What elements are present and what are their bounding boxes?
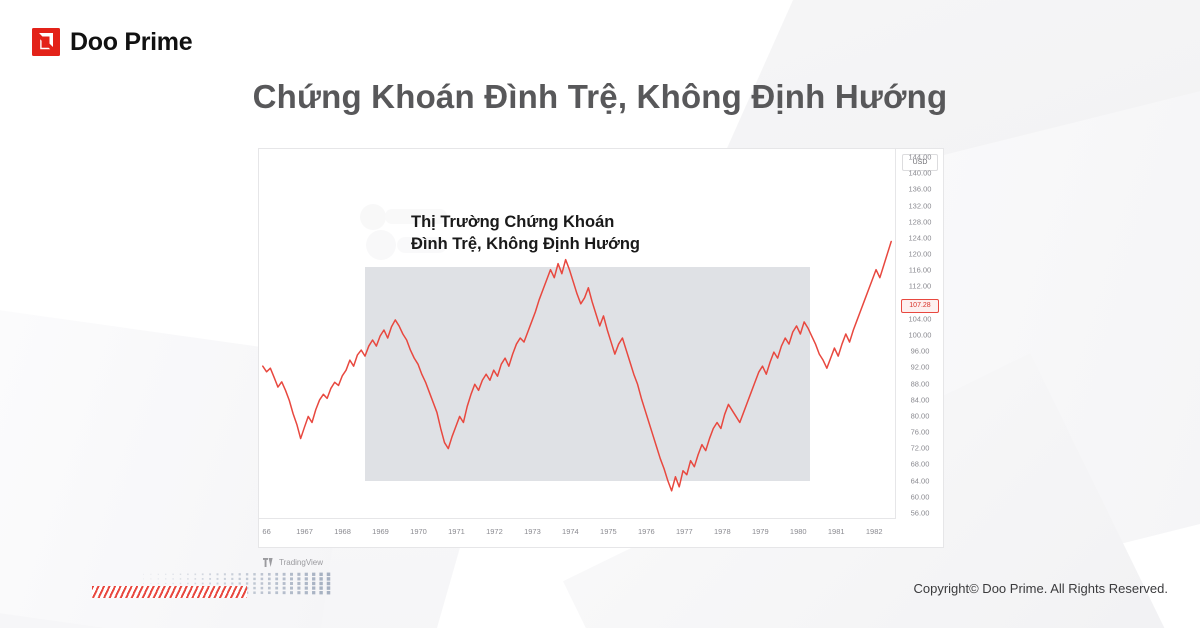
tradingview-attribution[interactable]: TradingView xyxy=(263,558,323,567)
doo-prime-logo-mark-icon xyxy=(32,28,60,56)
x-axis-tick: 1973 xyxy=(524,527,541,536)
chart-annotation-line1: Thị Trường Chứng Khoán xyxy=(411,211,640,233)
tradingview-label: TradingView xyxy=(279,558,323,567)
x-axis-tick: 1977 xyxy=(676,527,693,536)
y-axis-tick: 56.00 xyxy=(896,508,944,517)
x-axis-tick: 1968 xyxy=(334,527,351,536)
y-axis-tick: 132.00 xyxy=(896,201,944,210)
x-axis-tick: 1982 xyxy=(866,527,883,536)
y-axis-tick: 60.00 xyxy=(896,492,944,501)
y-axis-tick: 136.00 xyxy=(896,185,944,194)
chart-annotation-line2: Đình Trệ, Không Định Hướng xyxy=(411,233,640,255)
chart-card: Thị Trường Chứng Khoán Đình Trệ, Không Đ… xyxy=(258,148,944,548)
y-axis-tick: 72.00 xyxy=(896,444,944,453)
x-axis-tick: 1979 xyxy=(752,527,769,536)
x-axis-tick: 1970 xyxy=(410,527,427,536)
x-axis-tick: 1980 xyxy=(790,527,807,536)
brand-name: Doo Prime xyxy=(70,30,192,55)
last-price-tag[interactable]: 107.28 xyxy=(901,299,939,313)
x-axis-tick: 1978 xyxy=(714,527,731,536)
tradingview-logo-icon xyxy=(263,558,275,567)
y-axis-tick: 84.00 xyxy=(896,395,944,404)
y-axis-tick: 64.00 xyxy=(896,476,944,485)
x-axis-tick: 1976 xyxy=(638,527,655,536)
y-axis-tick: 100.00 xyxy=(896,331,944,340)
y-axis-tick: 124.00 xyxy=(896,233,944,242)
footer-decoration xyxy=(92,572,342,598)
y-axis-tick: 112.00 xyxy=(896,282,944,291)
chart-annotation: Thị Trường Chứng Khoán Đình Trệ, Không Đ… xyxy=(411,211,640,256)
y-axis-tick: 92.00 xyxy=(896,363,944,372)
price-line-series xyxy=(259,149,895,519)
y-axis-tick: 128.00 xyxy=(896,217,944,226)
x-axis-tick: 66 xyxy=(262,527,270,536)
red-stripe-bar xyxy=(92,586,247,598)
y-axis-tick: 120.00 xyxy=(896,250,944,259)
y-axis-tick: 80.00 xyxy=(896,411,944,420)
x-axis-tick: 1967 xyxy=(296,527,313,536)
x-axis-tick: 1972 xyxy=(486,527,503,536)
chart-plot-area: Thị Trường Chứng Khoán Đình Trệ, Không Đ… xyxy=(259,149,895,519)
x-axis-tick: 1969 xyxy=(372,527,389,536)
x-axis-tick: 1981 xyxy=(828,527,845,536)
y-axis-tick: 140.00 xyxy=(896,169,944,178)
y-axis-tick: 116.00 xyxy=(896,266,944,275)
x-axis-tick: 1974 xyxy=(562,527,579,536)
y-axis-tick: 104.00 xyxy=(896,314,944,323)
chart-y-axis[interactable]: USD 144.00140.00136.00132.00128.00124.00… xyxy=(895,149,943,519)
y-axis-tick: 88.00 xyxy=(896,379,944,388)
y-axis-tick: 68.00 xyxy=(896,460,944,469)
copyright-text: Copyright© Doo Prime. All Rights Reserve… xyxy=(913,581,1168,596)
x-axis-tick: 1975 xyxy=(600,527,617,536)
y-axis-tick: 144.00 xyxy=(896,153,944,162)
chart-x-axis[interactable]: TradingView 6619671968196919701971197219… xyxy=(259,518,895,547)
brand-logo: Doo Prime xyxy=(32,28,192,56)
slide-root: Doo Prime Chứng Khoán Đình Trệ, Không Đị… xyxy=(0,0,1200,628)
page-title: Chứng Khoán Đình Trệ, Không Định Hướng xyxy=(0,78,1200,116)
x-axis-tick: 1971 xyxy=(448,527,465,536)
y-axis-tick: 76.00 xyxy=(896,428,944,437)
y-axis-tick: 96.00 xyxy=(896,347,944,356)
